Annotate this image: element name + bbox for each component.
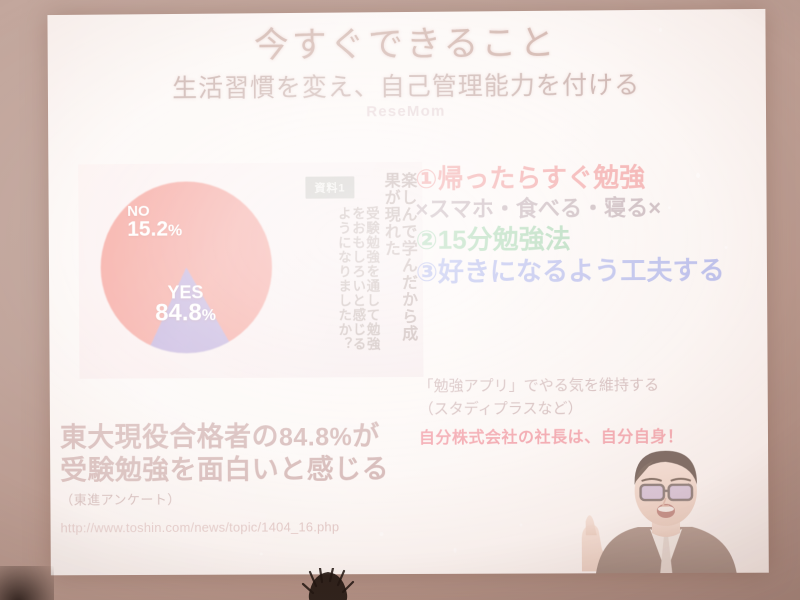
action-point-2: ②15分勉強法: [416, 222, 762, 255]
conclusion-percentage: 84.8%: [279, 423, 352, 451]
conclusion-url[interactable]: http://www.toshin.com/news/topic/1404_16…: [60, 519, 419, 535]
survey-chart-panel: NO 15.2% YES 84.8% 資料1 受験勉強を通して勉強をおもしろいと…: [78, 162, 423, 379]
vertical-text-area: 受験勉強を通して勉強をおもしろいと感じるようになりましたか？ 楽しんで学んだから…: [335, 172, 415, 368]
survey-question-vertical: 受験勉強を通して勉強をおもしろいと感じるようになりましたか？: [335, 206, 378, 358]
foreground-shadow: [0, 566, 54, 600]
title-block: 今すぐできること 生活習慣を変え、自己管理能力を付ける ReseMom: [48, 23, 766, 123]
page-title: 今すぐできること: [48, 23, 766, 67]
pie-slice-label-yes: YES 84.8%: [141, 283, 231, 326]
pie-chart: NO 15.2% YES 84.8%: [100, 181, 272, 354]
pie-chart-graphic: [100, 181, 272, 354]
note-line-1: 「勉強アプリ」でやる気を維持する: [419, 373, 769, 398]
watermark: ReseMom: [48, 100, 766, 123]
supporting-notes: 「勉強アプリ」でやる気を維持する （スタディプラスなど） 自分株式会社の社長は、…: [419, 373, 769, 447]
presenter-photo: [579, 442, 761, 573]
dust-speck: [520, 524, 523, 527]
note-line-2: （スタディプラスなど）: [419, 396, 769, 421]
survey-headline-vertical: 楽しんで学んだから成果が現れた: [381, 172, 416, 350]
conclusion-source: （東進アンケート）: [60, 488, 419, 509]
conclusion-line-1: 東大現役合格者の84.8%が: [60, 420, 419, 455]
pie-slice-value-no: 15.2%: [127, 219, 182, 241]
presenter-illustration: [579, 442, 761, 573]
projection-screen: 今すぐできること 生活習慣を変え、自己管理能力を付ける ReseMom NO 1…: [47, 9, 768, 575]
page-subtitle: 生活習慣を変え、自己管理能力を付ける: [48, 71, 766, 104]
conclusion-suffix: が: [352, 421, 380, 451]
action-point-1: ①帰ったらすぐ勉強: [415, 161, 761, 194]
conclusion-prefix: 東大現役合格者の: [60, 422, 279, 453]
action-points-list: ①帰ったらすぐ勉強 ×スマホ・食べる・寝る× ②15分勉強法 ③好きになるよう工…: [415, 161, 762, 289]
action-point-3: ③好きになるよう工夫する: [416, 255, 762, 288]
conclusion-line-2: 受験勉強を面白いと感じる: [60, 453, 419, 488]
conclusion-block: 東大現役合格者の84.8%が 受験勉強を面白いと感じる （東進アンケート） ht…: [60, 420, 420, 535]
audience-head-silhouette: [296, 568, 360, 600]
pie-slice-value-yes: 84.8%: [141, 301, 231, 326]
action-point-avoid: ×スマホ・食べる・寝る×: [415, 194, 761, 222]
slide-content: 今すぐできること 生活習慣を変え、自己管理能力を付ける ReseMom NO 1…: [47, 9, 768, 575]
dust-speck: [454, 548, 457, 553]
photographed-slide: 今すぐできること 生活習慣を変え、自己管理能力を付ける ReseMom NO 1…: [0, 0, 800, 600]
pie-slice-label-no: NO 15.2%: [127, 204, 182, 241]
dust-speck: [260, 553, 263, 556]
